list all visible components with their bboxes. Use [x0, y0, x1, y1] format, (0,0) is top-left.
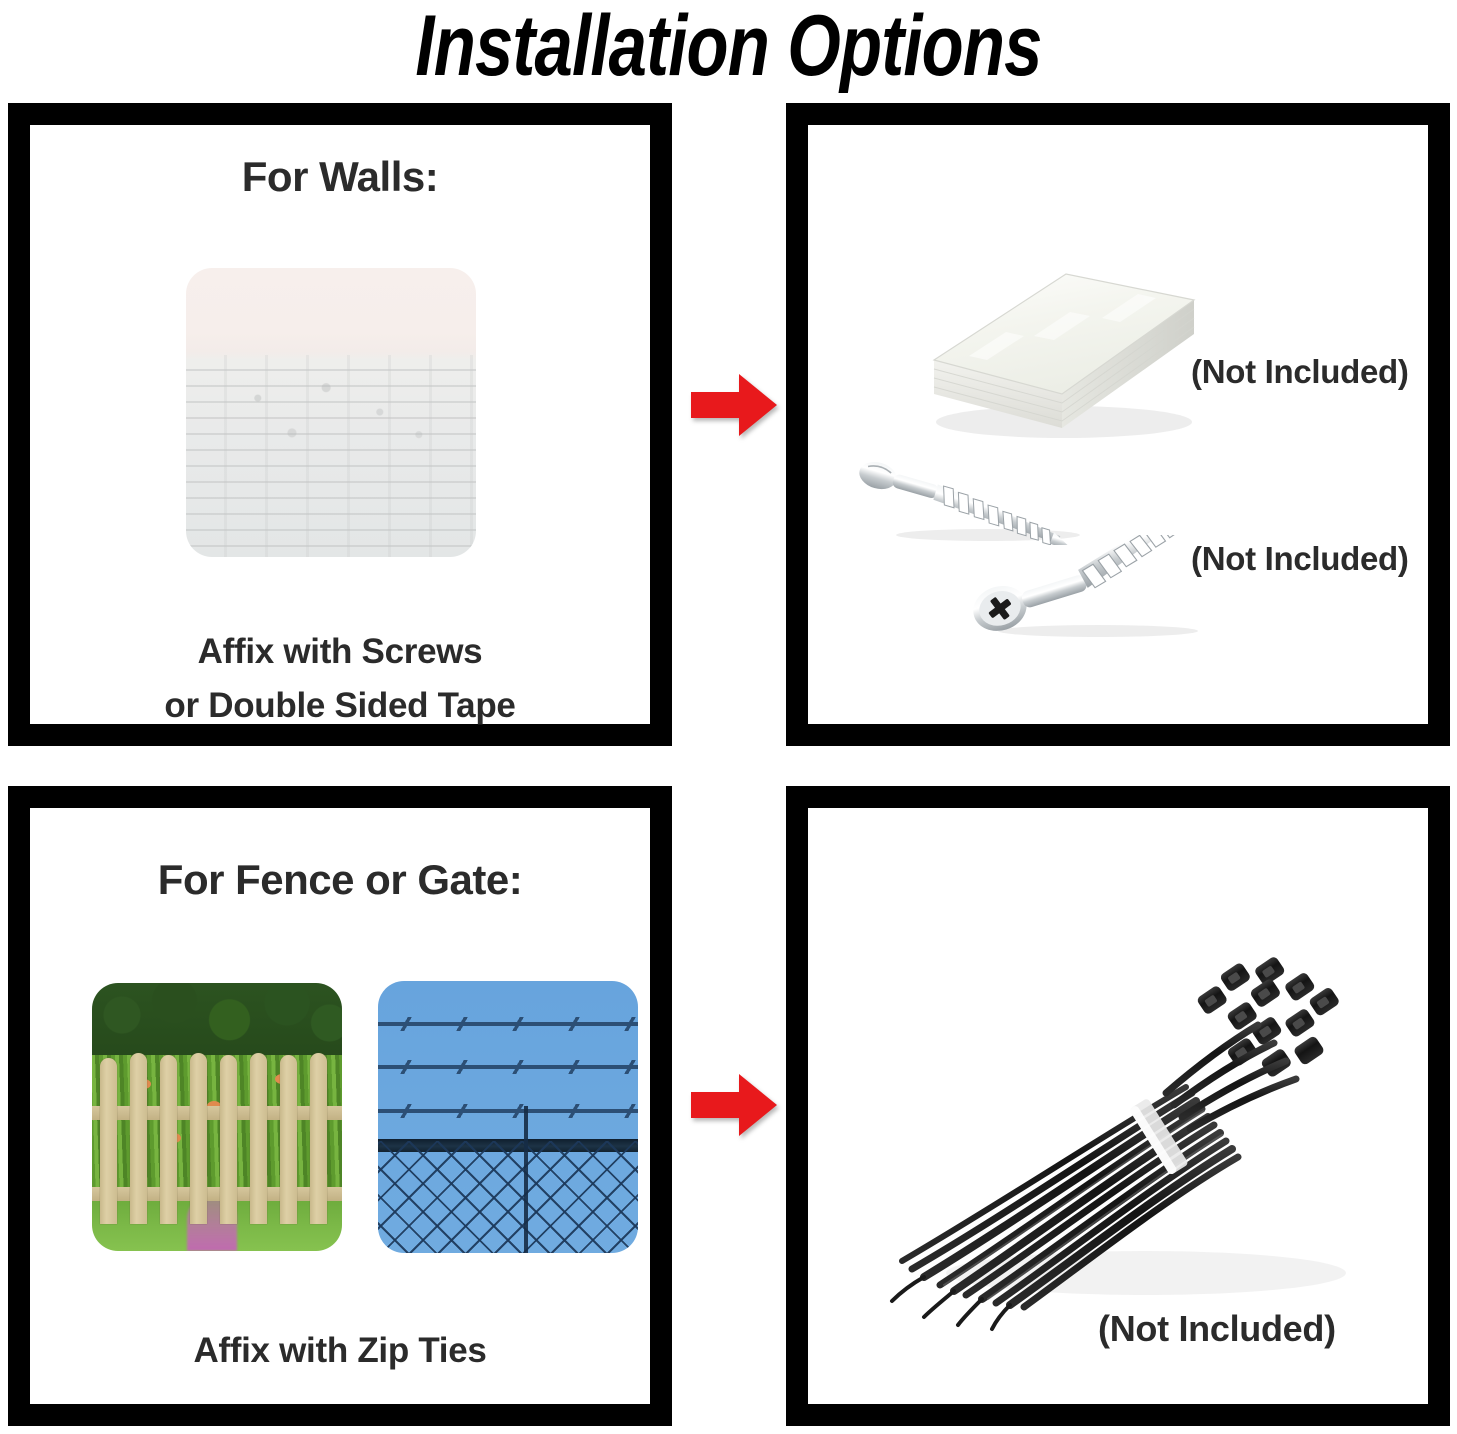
- arrow-right-icon: [691, 1074, 777, 1136]
- fence-picket: [310, 1053, 327, 1225]
- arrow-right-icon: [691, 374, 777, 436]
- barbed-wire-strand: [378, 1109, 638, 1113]
- fence-heading: For Fence or Gate:: [30, 856, 650, 904]
- barbed-wire-strand: [378, 1065, 638, 1069]
- white-brick-wall-photo: [186, 268, 476, 557]
- double-sided-tape-stack: [894, 252, 1214, 442]
- fence-picket: [250, 1053, 267, 1225]
- fence-picket: [280, 1055, 297, 1224]
- walls-caption-line-2: or Double Sided Tape: [30, 679, 650, 733]
- fence-post: [524, 1106, 528, 1253]
- black-zip-ties-bundle: [866, 933, 1386, 1333]
- fence-picket: [220, 1055, 237, 1224]
- panel-for-walls: For Walls: Affix with Screws or Double S…: [8, 103, 672, 746]
- fence-picket: [100, 1058, 117, 1224]
- barbed-wire-strand: [378, 1022, 638, 1026]
- tape-not-included-label: (Not Included): [1191, 353, 1409, 391]
- chain-link-barbed-wire-fence-photo: [378, 981, 638, 1253]
- walls-caption-line-1: Affix with Screws: [30, 625, 650, 679]
- panel-for-walls-inner: For Walls: Affix with Screws or Double S…: [30, 125, 650, 724]
- fence-picket: [160, 1055, 177, 1224]
- screw-not-included-label: (Not Included): [1191, 540, 1409, 578]
- panel-for-fence-or-gate-inner: For Fence or Gate:: [30, 808, 650, 1404]
- panel-wall-hardware-inner: (Not Included): [808, 125, 1428, 724]
- panel-wall-hardware: (Not Included): [786, 103, 1450, 746]
- chain-link-mesh: [378, 1141, 638, 1253]
- walls-heading: For Walls:: [30, 153, 650, 201]
- page-title: Installation Options: [146, 0, 1312, 96]
- panel-for-fence-or-gate: For Fence or Gate:: [8, 786, 672, 1426]
- fence-caption: Affix with Zip Ties: [30, 1324, 650, 1378]
- panel-zip-ties: (Not Included): [786, 786, 1450, 1426]
- wooden-picket-fence-photo: [92, 983, 342, 1251]
- panel-zip-ties-inner: (Not Included): [808, 808, 1428, 1404]
- hedge-backdrop: [92, 983, 342, 1063]
- wood-screw-lower: [958, 535, 1218, 640]
- walls-caption: Affix with Screws or Double Sided Tape: [30, 625, 650, 733]
- wood-screw-upper: [858, 455, 1098, 545]
- fence-picket: [130, 1053, 147, 1225]
- fence-picket: [190, 1053, 207, 1225]
- brick-texture-speckle: [209, 372, 453, 459]
- zipties-not-included-label: (Not Included): [1098, 1308, 1336, 1350]
